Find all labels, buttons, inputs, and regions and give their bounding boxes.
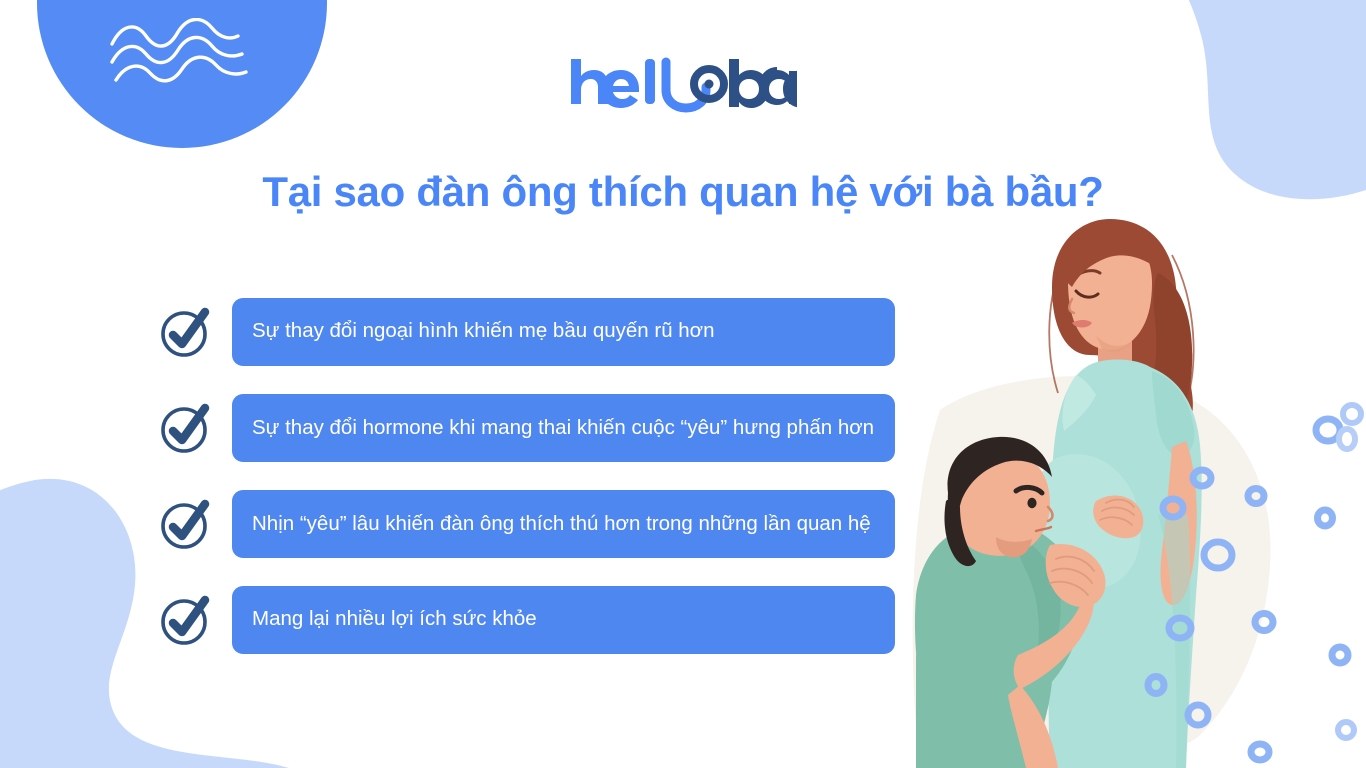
list-item-text: Sự thay đổi hormone khi mang thai khiến … <box>252 414 874 443</box>
brand-logo <box>0 57 1366 113</box>
page-title: Tại sao đàn ông thích quan hệ với bà bầu… <box>0 168 1366 216</box>
check-circle-icon <box>155 398 215 458</box>
list-item: Sự thay đổi hormone khi mang thai khiến … <box>155 394 895 462</box>
check-circle-icon <box>155 494 215 554</box>
infographic-canvas: Tại sao đàn ông thích quan hệ với bà bầu… <box>0 0 1366 768</box>
list-item: Mang lại nhiều lợi ích sức khỏe <box>155 586 895 654</box>
decorative-ring-right-edge <box>1334 424 1360 454</box>
hellobacsi-logo-icon <box>569 57 797 113</box>
list-item-bar: Sự thay đổi hormone khi mang thai khiến … <box>232 394 895 462</box>
check-circle-icon <box>155 302 215 362</box>
benefits-list: Sự thay đổi ngoại hình khiến mẹ bầu quyế… <box>155 298 895 654</box>
list-item-text: Sự thay đổi ngoại hình khiến mẹ bầu quyế… <box>252 317 715 346</box>
list-item-text: Mang lại nhiều lợi ích sức khỏe <box>252 605 537 634</box>
list-item-bar: Mang lại nhiều lợi ích sức khỏe <box>232 586 895 654</box>
list-item-bar: Nhịn “yêu” lâu khiến đàn ông thích thú h… <box>232 490 895 558</box>
list-item: Nhịn “yêu” lâu khiến đàn ông thích thú h… <box>155 490 895 558</box>
list-item-bar: Sự thay đổi ngoại hình khiến mẹ bầu quyế… <box>232 298 895 366</box>
list-item: Sự thay đổi ngoại hình khiến mẹ bầu quyế… <box>155 298 895 366</box>
check-circle-icon <box>155 590 215 650</box>
list-item-text: Nhịn “yêu” lâu khiến đàn ông thích thú h… <box>252 510 871 539</box>
decorative-rings <box>1140 400 1366 768</box>
